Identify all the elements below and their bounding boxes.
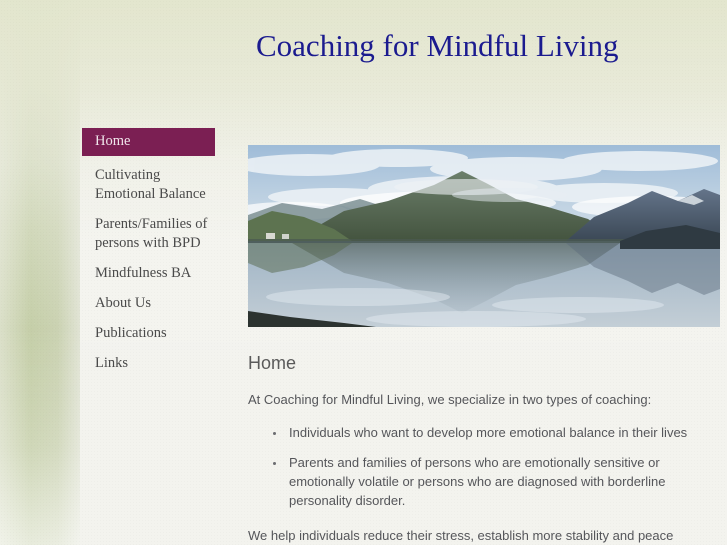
sidebar-item-mindfulness-ba[interactable]: Mindfulness BA bbox=[82, 261, 215, 286]
sidebar-item-label: Home bbox=[95, 133, 130, 149]
sidebar-item-cultivating-emotional-balance[interactable]: Cultivating Emotional Balance bbox=[82, 163, 215, 207]
sidebar-item-parents-families-bpd[interactable]: Parents/Families of persons with BPD bbox=[82, 212, 215, 256]
sidebar-item-home[interactable]: Home bbox=[82, 128, 215, 156]
sidebar-item-links[interactable]: Links bbox=[82, 351, 215, 376]
list-item: Individuals who want to develop more emo… bbox=[286, 423, 720, 442]
closing-paragraph: We help individuals reduce their stress,… bbox=[248, 526, 720, 545]
sidebar-item-publications[interactable]: Publications bbox=[82, 321, 215, 346]
sidebar-item-label: About Us bbox=[95, 295, 151, 311]
sidebar-item-about-us[interactable]: About Us bbox=[82, 291, 215, 316]
coaching-types-list: Individuals who want to develop more emo… bbox=[248, 423, 720, 510]
sidebar-item-label: Publications bbox=[95, 325, 167, 341]
section-heading: Home bbox=[248, 352, 720, 374]
main-content: Home At Coaching for Mindful Living, we … bbox=[248, 145, 720, 545]
intro-paragraph: At Coaching for Mindful Living, we speci… bbox=[248, 390, 720, 409]
left-decorative-band bbox=[0, 0, 80, 545]
sidebar-item-label: Parents/Families of persons with BPD bbox=[95, 216, 207, 251]
sidebar-item-label: Links bbox=[95, 355, 128, 371]
hero-image-lake-and-mountains bbox=[248, 145, 720, 327]
sidebar-nav: Home Cultivating Emotional Balance Paren… bbox=[82, 128, 215, 381]
sidebar-item-label: Cultivating Emotional Balance bbox=[95, 167, 206, 202]
list-item: Parents and families of persons who are … bbox=[286, 453, 720, 510]
sidebar-item-label: Mindfulness BA bbox=[95, 265, 191, 281]
page-title: Coaching for Mindful Living bbox=[256, 27, 716, 65]
page-root: Coaching for Mindful Living Home Cultiva… bbox=[0, 0, 727, 545]
